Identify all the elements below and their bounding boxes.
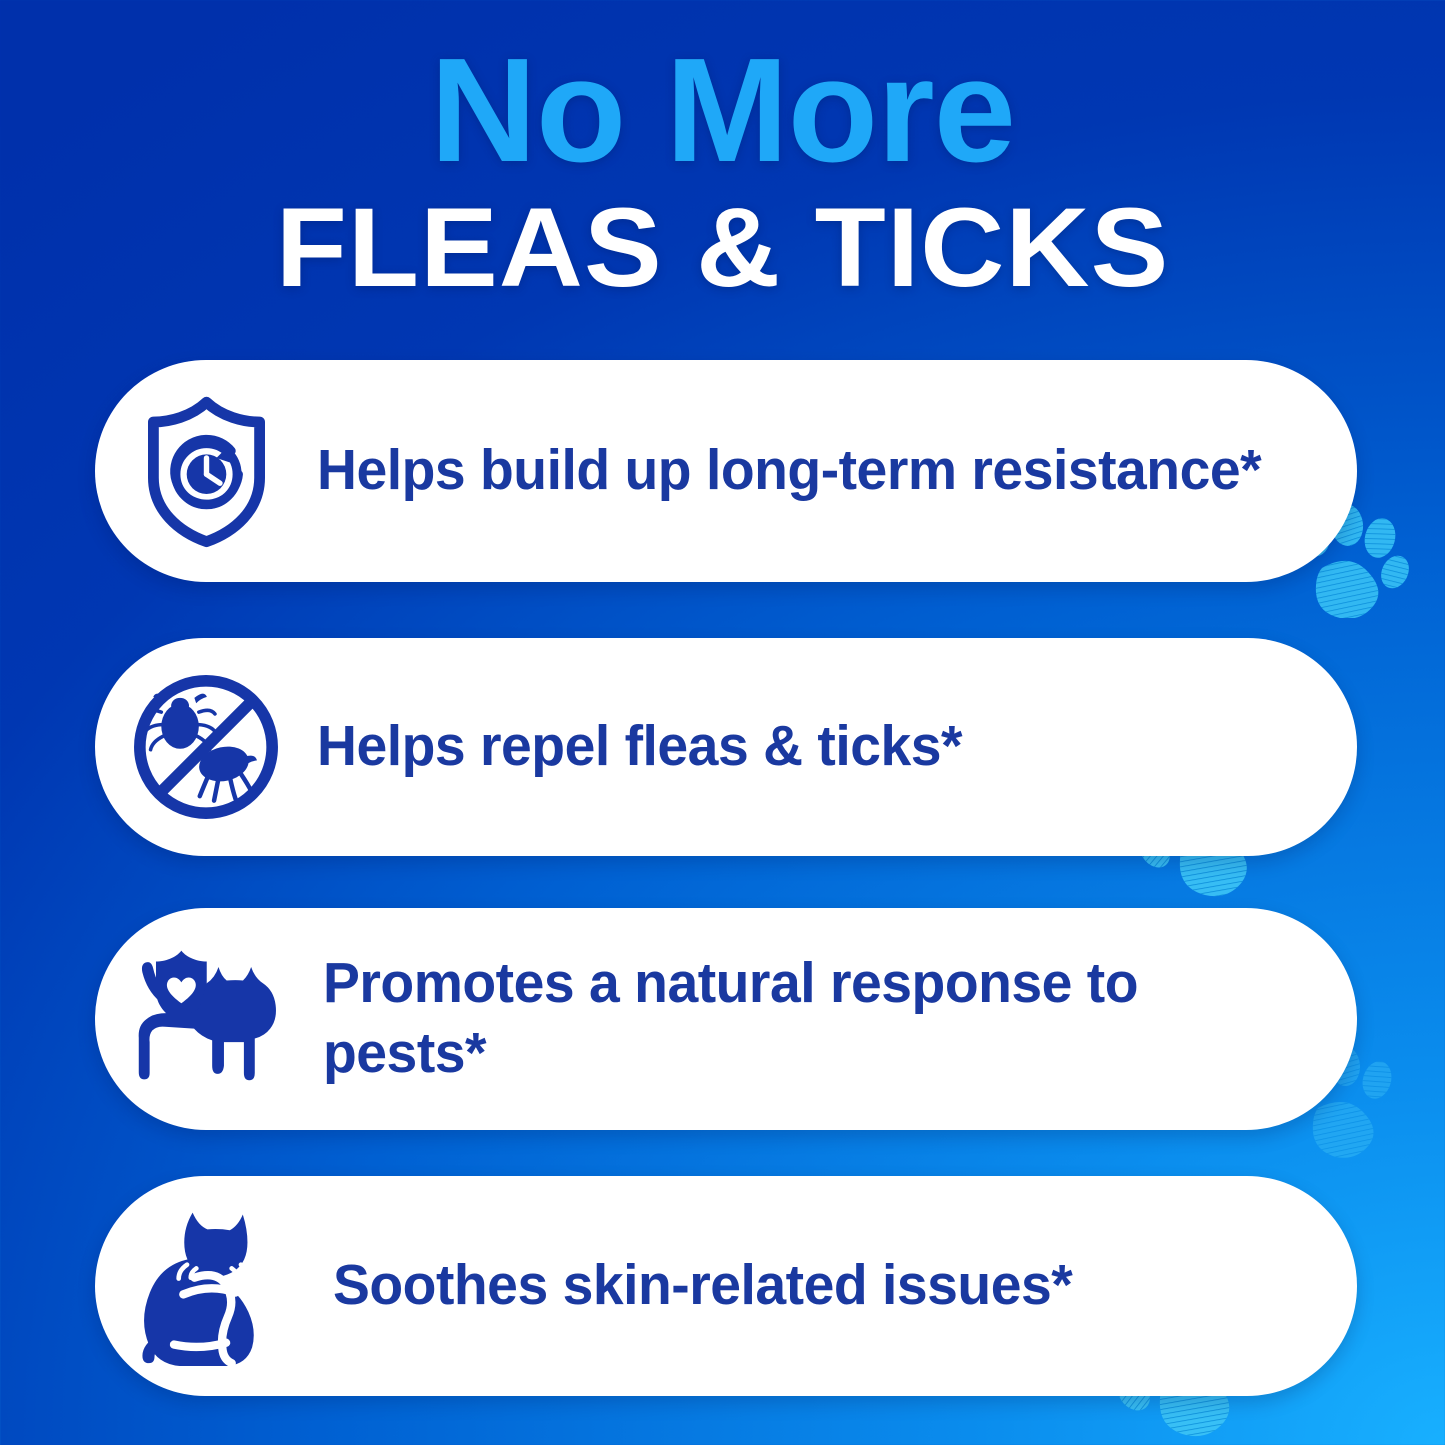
- cat-shield-heart-icon: [95, 947, 323, 1092]
- headline-line-1: No More: [0, 38, 1445, 183]
- headline-line-2: FLEAS & TICKS: [0, 189, 1445, 307]
- benefit-card-2[interactable]: Helps repel fleas & ticks*: [95, 638, 1357, 856]
- benefit-card-1-label: Helps build up long-term resistance*: [317, 436, 1326, 506]
- benefit-card-4-label: Soothes skin-related issues*: [333, 1251, 1326, 1321]
- promo-graphic: No More FLEAS & TICKS: [0, 0, 1445, 1445]
- benefit-card-2-label: Helps repel fleas & ticks*: [317, 712, 1326, 782]
- benefit-card-4[interactable]: Soothes skin-related issues*: [95, 1176, 1357, 1396]
- shield-clock-icon: [95, 395, 317, 548]
- benefit-card-3-label: Promotes a natural response to pests*: [323, 949, 1326, 1088]
- headline: No More FLEAS & TICKS: [0, 38, 1445, 307]
- cat-scratching-icon: [95, 1205, 333, 1368]
- no-fleas-ticks-icon: [95, 671, 317, 823]
- benefit-card-1[interactable]: Helps build up long-term resistance*: [95, 360, 1357, 582]
- benefit-card-3[interactable]: Promotes a natural response to pests*: [95, 908, 1357, 1130]
